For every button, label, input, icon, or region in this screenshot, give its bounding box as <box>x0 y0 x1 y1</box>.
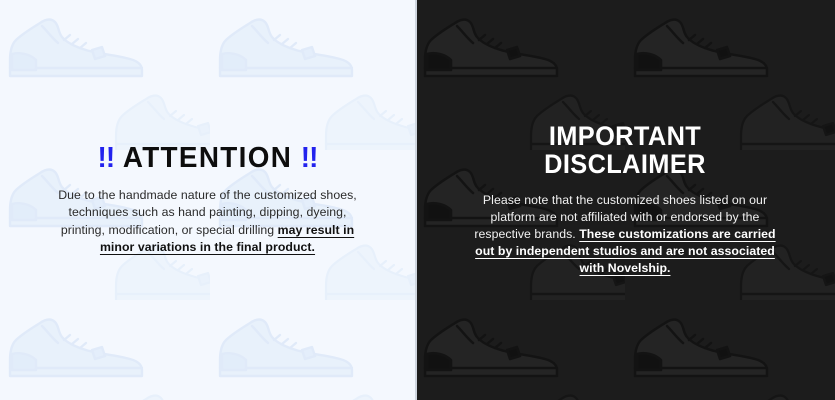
attention-heading: !!ATTENTION!! <box>22 144 394 173</box>
exclamation-right-icon: !! <box>301 142 318 174</box>
disclaimer-heading-line2: DISCLAIMER <box>544 149 706 179</box>
disclaimer-heading-line1: IMPORTANT <box>549 121 701 151</box>
panel-divider <box>415 0 417 400</box>
disclaimer-body-text: Please note that the customized shoes li… <box>466 192 784 278</box>
attention-heading-text: ATTENTION <box>123 142 292 174</box>
disclaimer-panel: IMPORTANT DISCLAIMER Please note that th… <box>415 0 835 400</box>
attention-panel: !!ATTENTION!! Due to the handmade nature… <box>0 0 415 400</box>
disclaimer-heading: IMPORTANT DISCLAIMER <box>441 122 809 178</box>
attention-body-text: Due to the handmade nature of the custom… <box>58 187 358 256</box>
exclamation-left-icon: !! <box>98 142 115 174</box>
disclaimer-banner: !!ATTENTION!! Due to the handmade nature… <box>0 0 835 400</box>
